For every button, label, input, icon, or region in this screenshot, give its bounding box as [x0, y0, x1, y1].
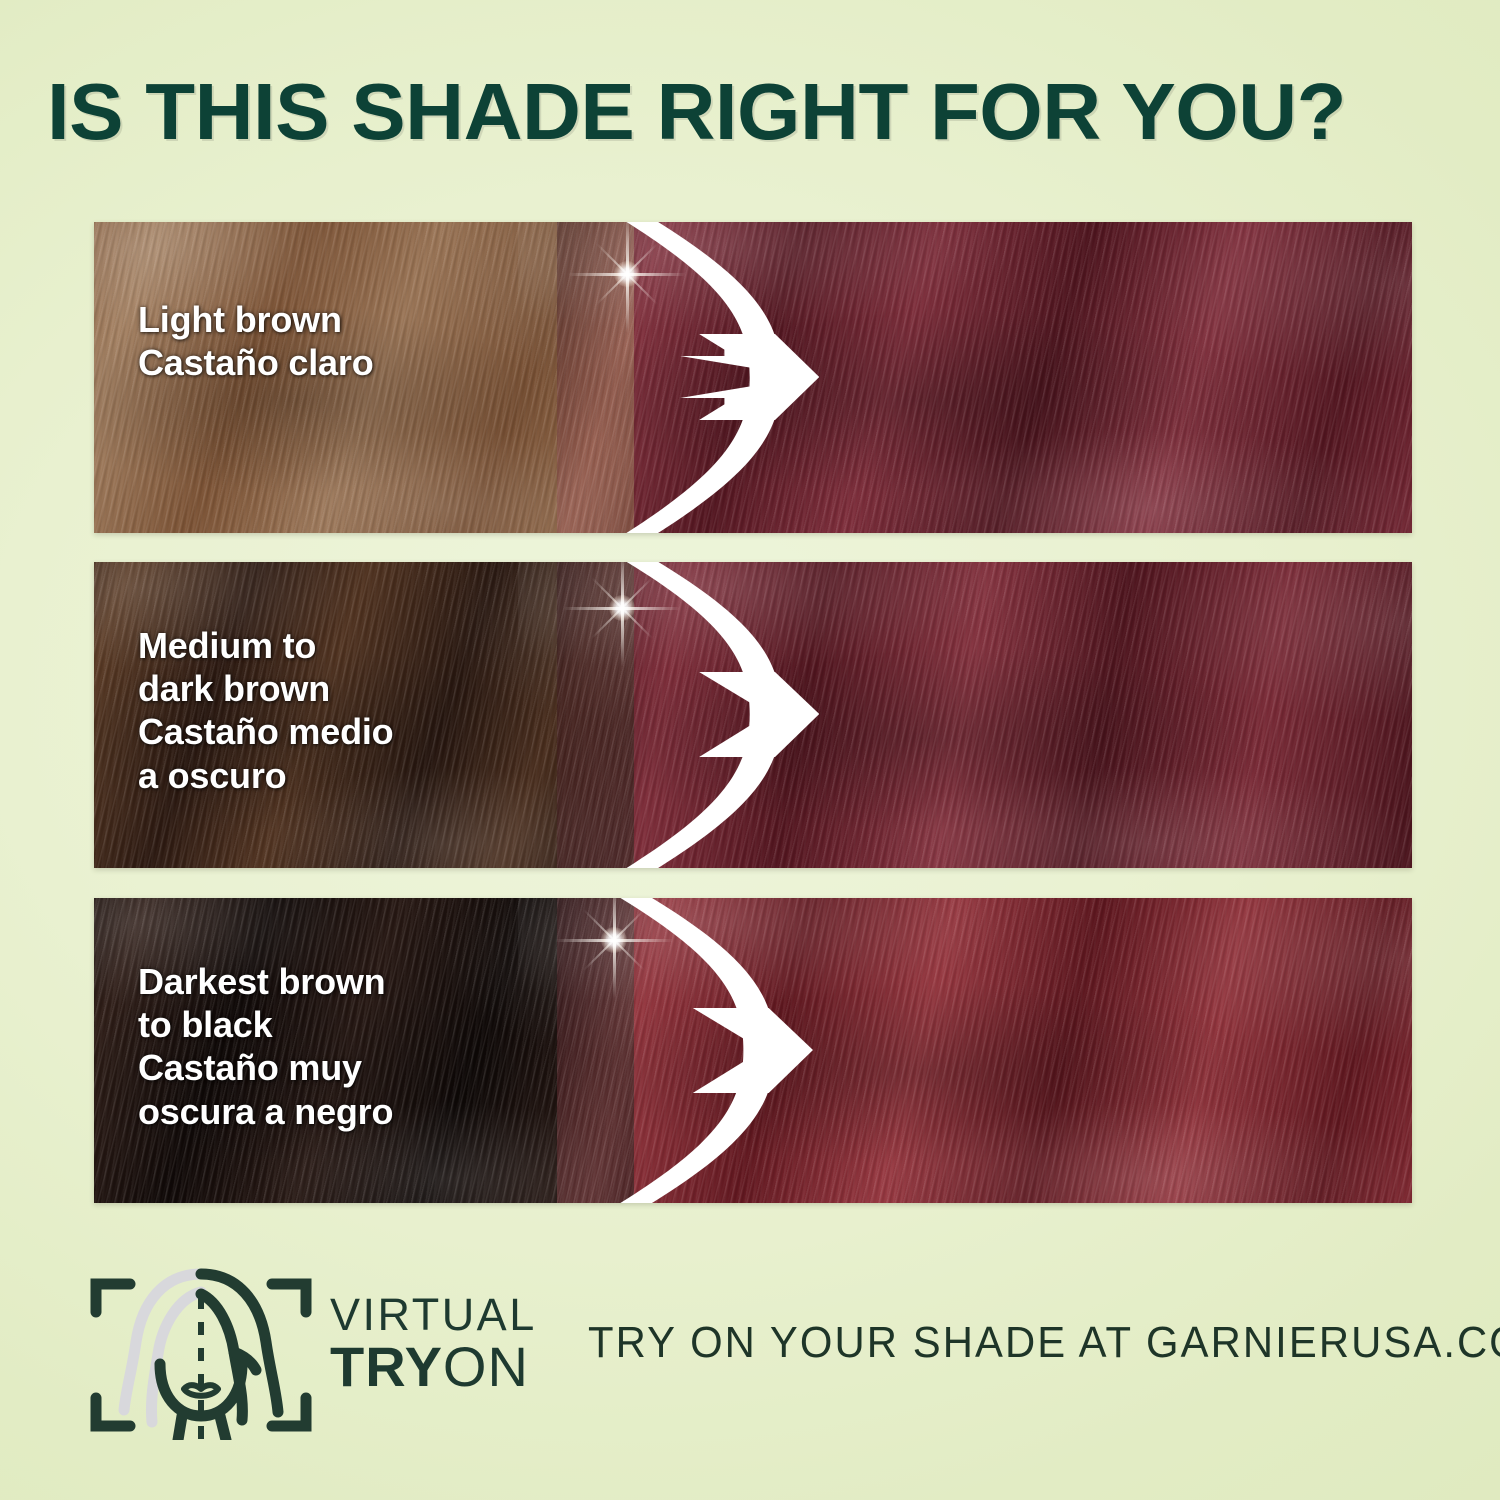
footer: VIRTUAL TRYON TRY ON YOUR SHADE AT GARNI…	[0, 1240, 1500, 1470]
wordmark-on: ON	[443, 1335, 529, 1398]
hair-waves	[518, 562, 1412, 868]
hair-strands	[557, 562, 1412, 868]
shade-panel-darkest-brown-black: Darkest brown to black Castaño muy oscur…	[94, 898, 1412, 1203]
shade-label-medium-dark-brown: Medium to dark brown Castaño medio a osc…	[138, 624, 393, 797]
hair-waves	[518, 222, 1412, 533]
hair-gloss	[557, 222, 1412, 533]
shade-panel-medium-dark-brown: Medium to dark brown Castaño medio a osc…	[94, 562, 1412, 868]
after-hair-swatch-red	[634, 562, 1412, 868]
shade-panel-light-brown: Light brown Castaño claro	[94, 222, 1412, 533]
shade-label-darkest-brown-black: Darkest brown to black Castaño muy oscur…	[138, 960, 393, 1133]
hair-gloss	[557, 898, 1412, 1203]
hair-strands	[557, 222, 1412, 533]
hair-strands-fine	[557, 222, 1412, 533]
footer-tagline: TRY ON YOUR SHADE AT GARNIERUSA.COM	[588, 1318, 1500, 1368]
hair-strands-fine	[557, 898, 1412, 1203]
hair-strands-fine	[557, 562, 1412, 868]
wordmark-try: TRY	[330, 1335, 443, 1398]
virtual-try-on-face-scan-icon	[86, 1250, 316, 1440]
virtual-try-on-wordmark: VIRTUAL TRYON	[330, 1292, 537, 1395]
promo-graphic: IS THIS SHADE RIGHT FOR YOU? Li	[0, 0, 1500, 1500]
page-title: IS THIS SHADE RIGHT FOR YOU?	[47, 72, 1495, 152]
wordmark-tryon: TRYON	[330, 1338, 537, 1395]
hair-waves	[518, 898, 1412, 1203]
after-hair-swatch-red	[634, 898, 1412, 1203]
hair-gloss	[557, 562, 1412, 868]
wordmark-virtual: VIRTUAL	[330, 1292, 537, 1338]
after-hair-swatch-red	[634, 222, 1412, 533]
shade-label-light-brown: Light brown Castaño claro	[138, 298, 373, 384]
hair-strands	[557, 898, 1412, 1203]
